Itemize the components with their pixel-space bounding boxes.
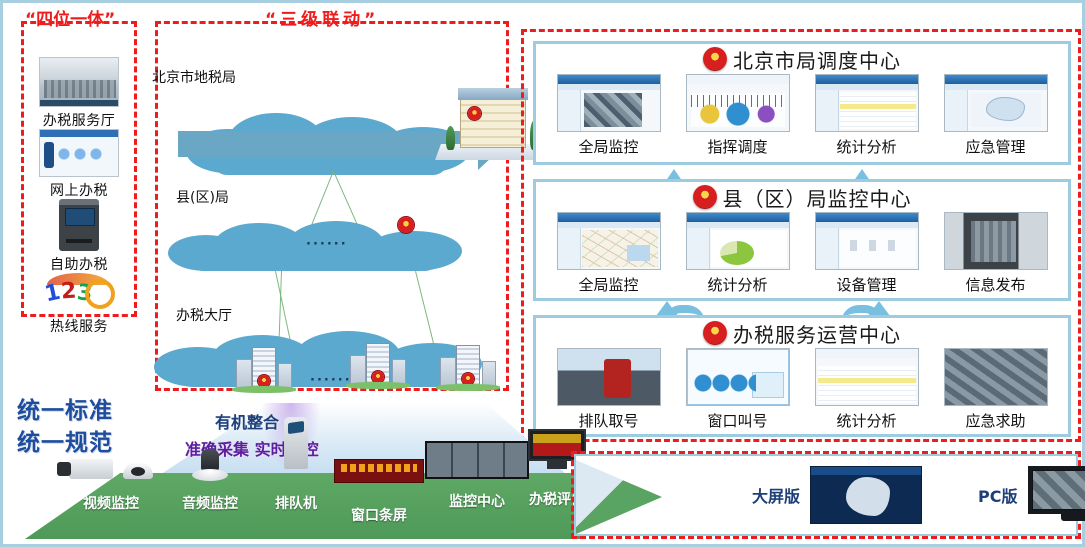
tier-label-tax-hall: 办税大厅 xyxy=(176,305,232,325)
card-label: 应急求助 xyxy=(940,410,1052,431)
display-version-label: 大屏版 xyxy=(752,483,800,507)
card-emergency-management[interactable]: 应急管理 xyxy=(940,74,1052,157)
left-item-tax-service-hall[interactable]: 办税服务厅 xyxy=(21,57,137,130)
card-statistics-analysis[interactable]: 统计分析 xyxy=(811,74,923,157)
statistics-table-screenshot xyxy=(815,348,919,406)
video-wall-icon xyxy=(425,441,529,479)
online-tax-portal-photo xyxy=(39,129,119,177)
device-audio-monitor[interactable]: 音频监控 xyxy=(171,449,249,513)
card-label: 窗口叫号 xyxy=(682,410,794,431)
display-version-large-screen[interactable]: 大屏版 xyxy=(752,466,922,524)
tier-label-city-bureau: 北京市地税局 xyxy=(152,67,236,87)
device-label: 监控中心 xyxy=(423,491,531,511)
card-statistics-analysis[interactable]: 统计分析 xyxy=(682,212,794,295)
arrow-wedge xyxy=(576,460,662,534)
emergency-help-screenshot xyxy=(944,348,1048,406)
left-item-hotline[interactable]: 123 热线服务 xyxy=(21,273,137,336)
panel-title: 县（区）局监控中心 xyxy=(536,182,1068,212)
display-version-label: PC版 xyxy=(978,483,1017,507)
card-label: 信息发布 xyxy=(940,274,1052,295)
device-layer: 有机整合 准确采集 实时监控 视频监控 音频监控 排队机 窗口条屏 监控中心 xyxy=(25,403,585,543)
card-window-calling[interactable]: 窗口叫号 xyxy=(682,348,794,431)
card-global-monitoring[interactable]: 全局监控 xyxy=(553,212,665,295)
left-item-online-tax[interactable]: 网上办税 xyxy=(21,129,137,200)
device-management-screenshot xyxy=(815,212,919,270)
card-device-management[interactable]: 设备管理 xyxy=(811,212,923,295)
panel-district-monitoring-center: 县（区）局监控中心 全局监控 统计分析 设备管理 信息发布 xyxy=(533,179,1071,301)
device-monitoring-center[interactable]: 监控中心 xyxy=(423,437,531,511)
statistics-pie-screenshot xyxy=(686,212,790,270)
card-label: 设备管理 xyxy=(811,274,923,295)
card-label: 统计分析 xyxy=(811,410,923,431)
tax-hall-building-icon xyxy=(350,339,406,385)
card-statistics-analysis[interactable]: 统计分析 xyxy=(811,348,923,431)
statistics-analysis-screenshot xyxy=(815,74,919,132)
card-label: 全局监控 xyxy=(553,274,665,295)
card-emergency-help[interactable]: 应急求助 xyxy=(940,348,1052,431)
emergency-management-screenshot xyxy=(944,74,1048,132)
flow-arrow xyxy=(178,131,478,157)
district-emblem-icon xyxy=(398,217,414,233)
three-tier-cloud-diagram: 北京市地税局 县(区)局 办税大厅 xyxy=(158,25,508,390)
left-item-label: 热线服务 xyxy=(21,316,137,336)
diagram-canvas: “四位一体” “三级联动” 办税服务厅 网上办税 自助办税 123 热线服务 统… xyxy=(0,0,1085,547)
panel-display-versions: 大屏版 PC版 xyxy=(574,454,1078,536)
led-strip-screen-icon xyxy=(334,459,424,483)
national-emblem-icon xyxy=(693,185,717,209)
panel-title-text: 县（区）局监控中心 xyxy=(723,183,912,212)
national-emblem-icon xyxy=(703,47,727,71)
card-label: 全局监控 xyxy=(553,136,665,157)
command-dispatch-screenshot xyxy=(686,74,790,132)
panel-title: 办税服务运营中心 xyxy=(536,318,1068,348)
device-label: 窗口条屏 xyxy=(331,505,427,525)
information-release-screenshot xyxy=(944,212,1048,270)
device-video-monitor[interactable]: 视频监控 xyxy=(65,455,157,513)
left-item-self-service[interactable]: 自助办税 xyxy=(21,199,137,274)
queue-ticket-screenshot xyxy=(557,348,661,406)
hotline-12366-logo: 123 xyxy=(41,273,117,311)
dome-camera-icon xyxy=(123,462,153,479)
device-window-strip-screen[interactable]: 窗口条屏 xyxy=(331,443,427,525)
tax-hall-building-icon xyxy=(440,341,496,387)
card-global-monitoring[interactable]: 全局监控 xyxy=(553,74,665,157)
window-calling-screenshot xyxy=(686,348,790,406)
left-item-label: 自助办税 xyxy=(21,254,137,274)
device-label: 排队机 xyxy=(263,493,329,513)
global-monitoring-map-screenshot xyxy=(557,212,661,270)
card-label: 指挥调度 xyxy=(682,136,794,157)
card-information-release[interactable]: 信息发布 xyxy=(940,212,1052,295)
queue-kiosk-icon xyxy=(284,417,308,469)
cloud-ellipsis-district: ······ xyxy=(306,237,348,252)
card-command-dispatch[interactable]: 指挥调度 xyxy=(682,74,794,157)
tax-service-hall-photo xyxy=(39,57,119,107)
microphone-icon xyxy=(201,449,219,471)
panel-city-dispatch-center: 北京市局调度中心 全局监控 指挥调度 统计分析 应急管理 xyxy=(533,41,1071,165)
card-label: 统计分析 xyxy=(682,274,794,295)
panel-tax-service-operation-center: 办税服务运营中心 排队取号 窗口叫号 统计分析 应急求助 xyxy=(533,315,1071,437)
tax-hall-building-icon xyxy=(236,343,292,389)
tier-label-district-bureau: 县(区)局 xyxy=(176,187,229,207)
panel-title: 北京市局调度中心 xyxy=(536,44,1068,74)
four-in-one-list: 办税服务厅 网上办税 自助办税 123 热线服务 xyxy=(21,25,137,315)
large-screen-display-icon xyxy=(810,466,922,524)
video-camera-icon xyxy=(69,459,113,479)
card-label: 应急管理 xyxy=(940,136,1052,157)
left-item-label: 网上办税 xyxy=(21,180,137,200)
device-label: 音频监控 xyxy=(171,493,249,513)
display-version-pc[interactable]: PC版 xyxy=(978,466,1085,524)
left-item-label: 办税服务厅 xyxy=(21,110,137,130)
self-service-kiosk-photo xyxy=(59,199,99,251)
pc-monitor-icon xyxy=(1028,466,1085,524)
panel-title-text: 办税服务运营中心 xyxy=(733,319,901,348)
global-monitoring-screenshot xyxy=(557,74,661,132)
panel-title-text: 北京市局调度中心 xyxy=(733,45,901,74)
card-label: 统计分析 xyxy=(811,136,923,157)
national-emblem-icon xyxy=(703,321,727,345)
device-queue-machine[interactable]: 排队机 xyxy=(263,417,329,513)
device-label: 视频监控 xyxy=(65,493,157,513)
